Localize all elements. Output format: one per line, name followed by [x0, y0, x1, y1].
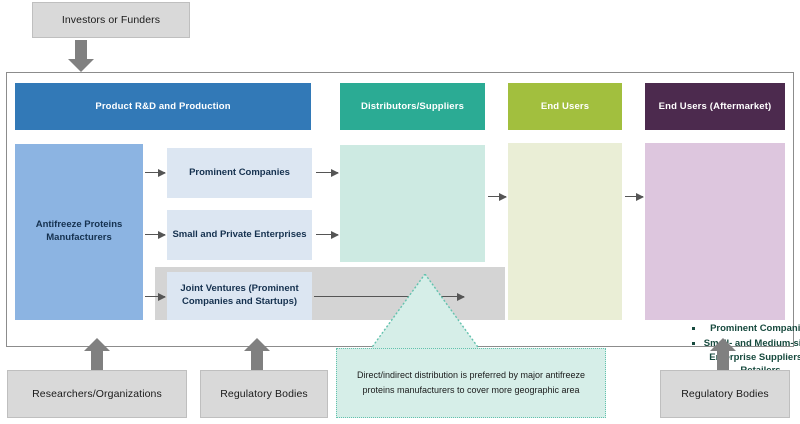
- connector-arrow-small-to-distributors: [316, 234, 338, 235]
- stakeholder-box-regulatory-right[interactable]: Regulatory Bodies: [660, 370, 790, 418]
- callout-text: Direct/indirect distribution is preferre…: [353, 368, 589, 398]
- arrow-up-icon-regulatory-right: [710, 338, 736, 370]
- box-prominent-companies[interactable]: Prominent Companies: [167, 148, 312, 198]
- arrow-up-icon-researchers: [84, 338, 110, 370]
- label-prominent-companies: Prominent Companies: [189, 167, 290, 180]
- box-end-users-aftermarket[interactable]: Government Contractors Private Contracto…: [645, 143, 785, 320]
- connector-arrow-end-users-to-aftermarket: [625, 196, 643, 197]
- column-header-label-rnd: Product R&D and Production: [95, 101, 230, 112]
- label-antifreeze-proteins-manufacturers: Antifreeze Proteins Manufacturers: [15, 219, 143, 245]
- column-header-label-end-users: End Users: [541, 101, 589, 112]
- connector-arrow-manufacturers-to-joint: [145, 296, 165, 297]
- connector-arrow-manufacturers-to-prominent: [145, 172, 165, 173]
- box-joint-ventures[interactable]: Joint Ventures (Prominent Companies and …: [167, 272, 312, 320]
- list-item: Prominent Companies: [692, 322, 800, 336]
- callout-pointer-icon: [370, 274, 480, 350]
- label-small-private-enterprises: Small and Private Enterprises: [172, 229, 306, 242]
- box-antifreeze-proteins-manufacturers[interactable]: Antifreeze Proteins Manufacturers: [15, 144, 143, 320]
- box-distributors-suppliers[interactable]: Prominent Companies Small- and Medium-si…: [340, 145, 485, 262]
- connector-arrow-distributors-to-end-users: [488, 196, 506, 197]
- stakeholder-label-researchers: Researchers/Organizations: [32, 388, 162, 400]
- label-joint-ventures: Joint Ventures (Prominent Companies and …: [171, 283, 308, 309]
- stakeholder-label-regulatory-right: Regulatory Bodies: [681, 388, 769, 400]
- stakeholder-box-investors[interactable]: Investors or Funders: [32, 2, 190, 38]
- stakeholder-label-regulatory-left: Regulatory Bodies: [220, 388, 308, 400]
- connector-arrow-prominent-to-distributors: [316, 172, 338, 173]
- column-header-end-users-aftermarket[interactable]: End Users (Aftermarket): [645, 83, 785, 130]
- column-header-label-aftermarket: End Users (Aftermarket): [659, 101, 772, 112]
- stakeholder-box-researchers[interactable]: Researchers/Organizations: [7, 370, 187, 418]
- column-header-end-users[interactable]: End Users: [508, 83, 622, 130]
- arrow-down-icon-investors: [68, 40, 94, 72]
- column-header-distributors[interactable]: Distributors/Suppliers: [340, 83, 485, 130]
- box-small-private-enterprises[interactable]: Small and Private Enterprises: [167, 210, 312, 260]
- stakeholder-box-regulatory-left[interactable]: Regulatory Bodies: [200, 370, 328, 418]
- connector-arrow-manufacturers-to-small: [145, 234, 165, 235]
- callout-distribution-note[interactable]: Direct/indirect distribution is preferre…: [336, 348, 606, 418]
- box-end-users[interactable]: Medical Cosmetics Food: [508, 143, 622, 320]
- arrow-up-icon-regulatory-left: [244, 338, 270, 370]
- value-chain-diagram: Investors or Funders Product R&D and Pro…: [0, 0, 800, 424]
- stakeholder-label-investors: Investors or Funders: [62, 14, 160, 26]
- column-header-label-distributors: Distributors/Suppliers: [361, 101, 464, 112]
- column-header-product-rnd[interactable]: Product R&D and Production: [15, 83, 311, 130]
